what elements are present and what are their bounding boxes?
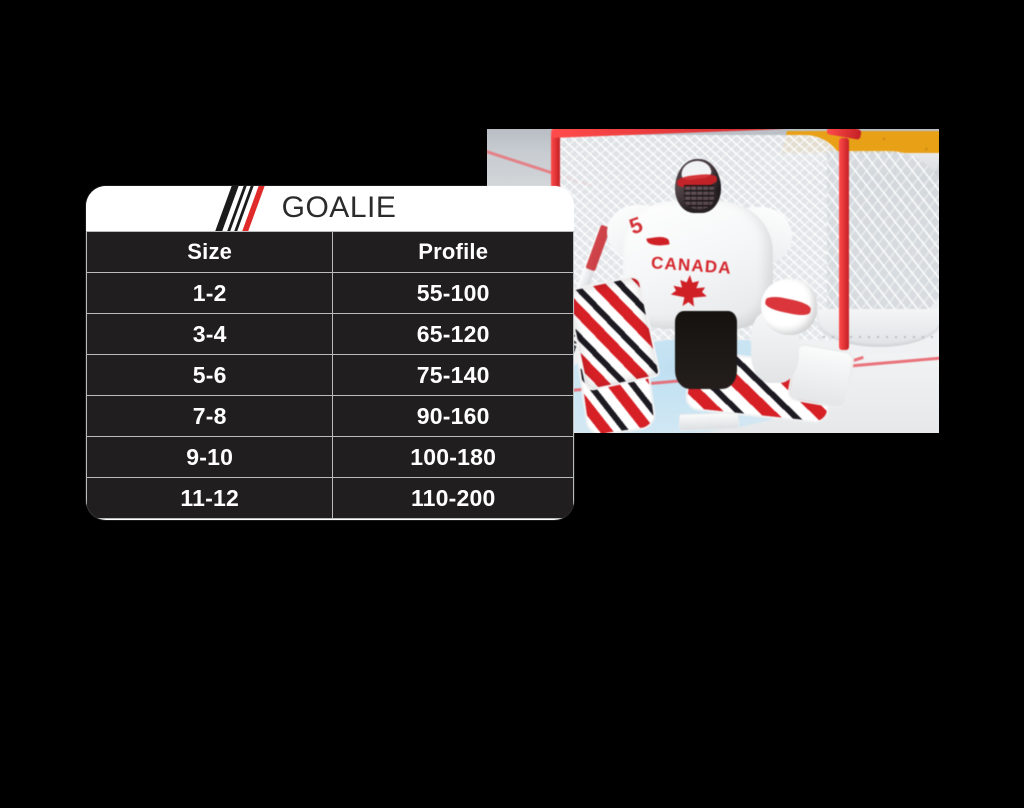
cell-profile: 110-200 (333, 478, 574, 519)
table-row: 11-12 110-200 (87, 478, 574, 519)
cell-size: 1-2 (87, 273, 333, 314)
goalie-size-chart-card: GOALIE Size Profile 1-2 55-100 3-4 65-12… (86, 186, 574, 520)
cell-size: 5-6 (87, 355, 333, 396)
cell-size: 11-12 (87, 478, 333, 519)
goalie-helmet (675, 159, 721, 213)
cell-profile: 55-100 (333, 273, 574, 314)
table-row: 7-8 90-160 (87, 396, 574, 437)
page-title: GOALIE (86, 192, 574, 224)
table-row: 9-10 100-180 (87, 437, 574, 478)
column-header-profile: Profile (333, 232, 574, 273)
cell-profile: 100-180 (333, 437, 574, 478)
cell-profile: 75-140 (333, 355, 574, 396)
goalie-helmet-cage (684, 185, 714, 209)
cell-size: 3-4 (87, 314, 333, 355)
table-row: 5-6 75-140 (87, 355, 574, 396)
card-header: GOALIE (86, 186, 574, 231)
table-row: 3-4 65-120 (87, 314, 574, 355)
size-chart-table: Size Profile 1-2 55-100 3-4 65-120 5-6 7… (86, 231, 574, 519)
table-header-row: Size Profile (87, 232, 574, 273)
goalie-pants (675, 311, 737, 389)
goalie-stick-blade (679, 412, 740, 431)
column-header-size: Size (87, 232, 333, 273)
cell-profile: 65-120 (333, 314, 574, 355)
cell-size: 9-10 (87, 437, 333, 478)
cell-size: 7-8 (87, 396, 333, 437)
goalie-figure: 5 CANADA (575, 151, 835, 421)
table-row: 1-2 55-100 (87, 273, 574, 314)
net-post-right (839, 138, 849, 350)
table-body: 1-2 55-100 3-4 65-120 5-6 75-140 7-8 90-… (87, 273, 574, 519)
cell-profile: 90-160 (333, 396, 574, 437)
